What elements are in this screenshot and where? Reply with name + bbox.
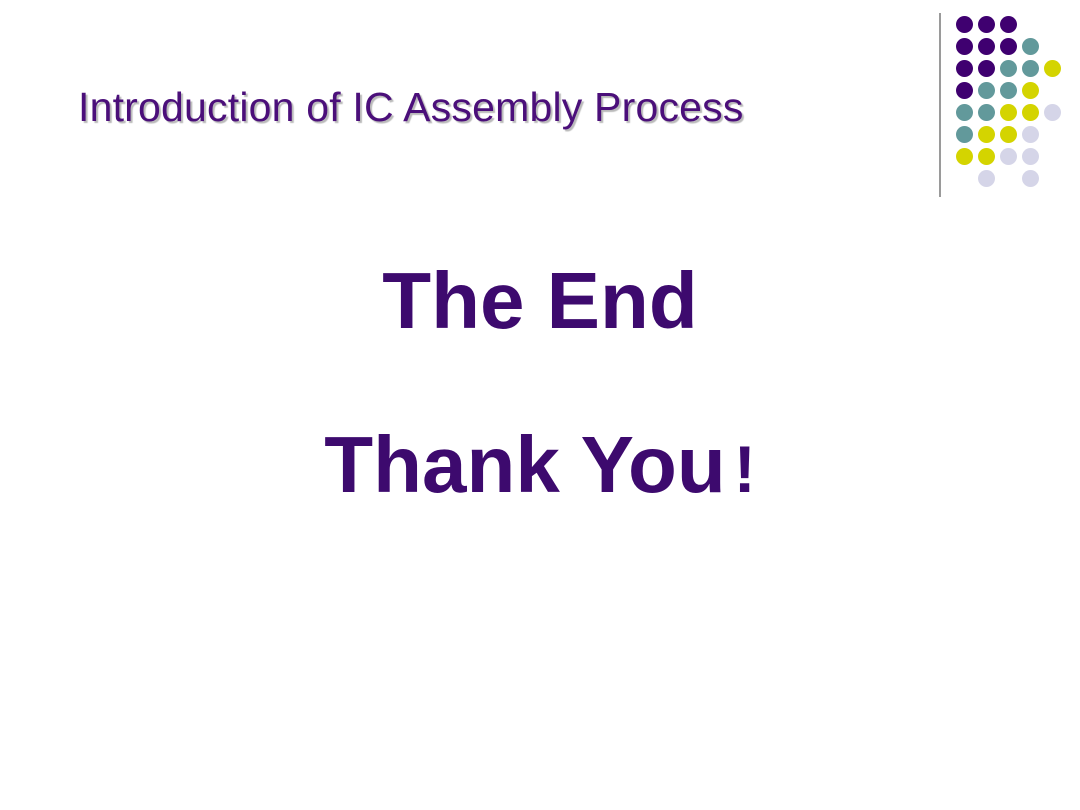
the-end-text: The End: [0, 255, 1080, 347]
logo-dot-teal: [956, 104, 973, 121]
logo-dot-lavender: [1022, 148, 1039, 165]
logo-dot-purple: [1000, 38, 1017, 55]
logo-dot-purple: [956, 60, 973, 77]
logo-dot-yellow: [1022, 82, 1039, 99]
slide-canvas: Introduction of IC Assembly Process The …: [0, 0, 1080, 810]
logo-dot-teal: [1000, 60, 1017, 77]
logo-dot-teal: [1000, 82, 1017, 99]
logo-dot-yellow: [1044, 60, 1061, 77]
logo-dot-lavender: [1022, 170, 1039, 187]
logo-dot-yellow: [978, 126, 995, 143]
logo-dot-purple: [978, 38, 995, 55]
logo: [930, 0, 1080, 210]
logo-dot-purple: [978, 16, 995, 33]
page-title: Introduction of IC Assembly Process: [78, 82, 878, 132]
logo-dot-teal: [1022, 38, 1039, 55]
logo-dot-teal: [978, 104, 995, 121]
thank-you-text: Thank You: [324, 420, 726, 509]
logo-dot-grid-icon: [956, 16, 1080, 196]
logo-dot-lavender: [978, 170, 995, 187]
logo-dot-yellow: [1022, 104, 1039, 121]
logo-dot-yellow: [956, 148, 973, 165]
logo-dot-purple: [956, 38, 973, 55]
logo-dot-lavender: [1044, 104, 1061, 121]
logo-dot-purple: [956, 82, 973, 99]
logo-dot-purple: [978, 60, 995, 77]
logo-divider: [939, 13, 941, 197]
logo-dot-lavender: [1000, 148, 1017, 165]
thank-you-line: Thank You!: [0, 419, 1080, 515]
logo-dot-yellow: [1000, 104, 1017, 121]
logo-dot-yellow: [1000, 126, 1017, 143]
exclamation-mark: !: [726, 432, 756, 506]
logo-dot-purple: [956, 16, 973, 33]
logo-dot-teal: [978, 82, 995, 99]
logo-dot-yellow: [978, 148, 995, 165]
logo-dot-lavender: [1022, 126, 1039, 143]
body-text-block: The End Thank You!: [0, 255, 1080, 515]
logo-dot-teal: [956, 126, 973, 143]
logo-dot-teal: [1022, 60, 1039, 77]
logo-dot-purple: [1000, 16, 1017, 33]
